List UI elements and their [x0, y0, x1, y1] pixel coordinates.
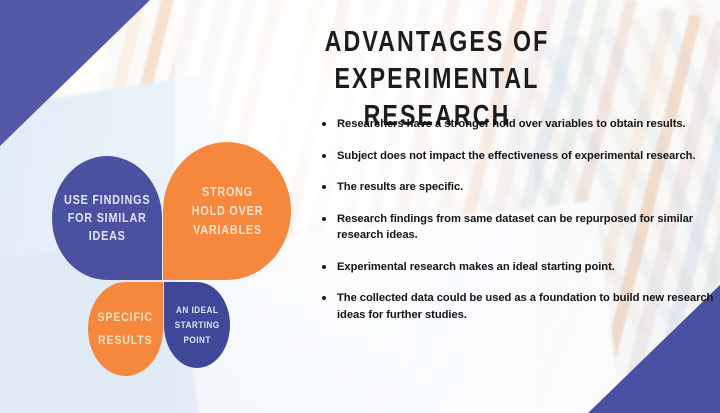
- circle-strong-hold-over-variables: STRONG HOLD OVER VARIABLES: [163, 142, 291, 280]
- list-item-text: Experimental research makes an ideal sta…: [337, 259, 615, 276]
- circle-label: STRONG HOLD OVER VARIABLES: [191, 183, 262, 240]
- advantages-bullet-list: Researchers have a stronger hold over va…: [322, 116, 714, 338]
- list-item: The collected data could be used as a fo…: [322, 290, 714, 323]
- slide-canvas: ADVANTAGES OF EXPERIMENTAL RESEARCH Rese…: [0, 0, 720, 413]
- bullet-dot-icon: [322, 217, 326, 221]
- list-item-text: Research findings from same dataset can …: [337, 211, 714, 244]
- circle-label: USE FINDINGS FOR SIMILAR IDEAS: [64, 191, 150, 245]
- circle-label: SPECIFIC RESULTS: [98, 306, 153, 352]
- list-item-text: Subject does not impact the effectivenes…: [337, 148, 696, 165]
- list-item: Subject does not impact the effectivenes…: [322, 148, 714, 165]
- list-item-text: The results are specific.: [337, 179, 463, 196]
- circle-an-ideal-starting-point: AN IDEAL STARTING POINT: [164, 282, 230, 368]
- bullet-dot-icon: [322, 185, 326, 189]
- bullet-dot-icon: [322, 296, 326, 300]
- circle-specific-results: SPECIFIC RESULTS: [88, 282, 163, 376]
- circle-label: AN IDEAL STARTING POINT: [174, 303, 219, 348]
- list-item: Research findings from same dataset can …: [322, 211, 714, 244]
- bullet-dot-icon: [322, 265, 326, 269]
- list-item-text: Researchers have a stronger hold over va…: [337, 116, 686, 133]
- list-item: The results are specific.: [322, 179, 714, 196]
- bullet-dot-icon: [322, 154, 326, 158]
- list-item: Experimental research makes an ideal sta…: [322, 259, 714, 276]
- circle-use-findings-for-similar-ideas: USE FINDINGS FOR SIMILAR IDEAS: [52, 156, 162, 280]
- list-item: Researchers have a stronger hold over va…: [322, 116, 714, 133]
- list-item-text: The collected data could be used as a fo…: [337, 290, 714, 323]
- corner-triangle-top-left: [0, 0, 150, 146]
- bullet-dot-icon: [322, 122, 326, 126]
